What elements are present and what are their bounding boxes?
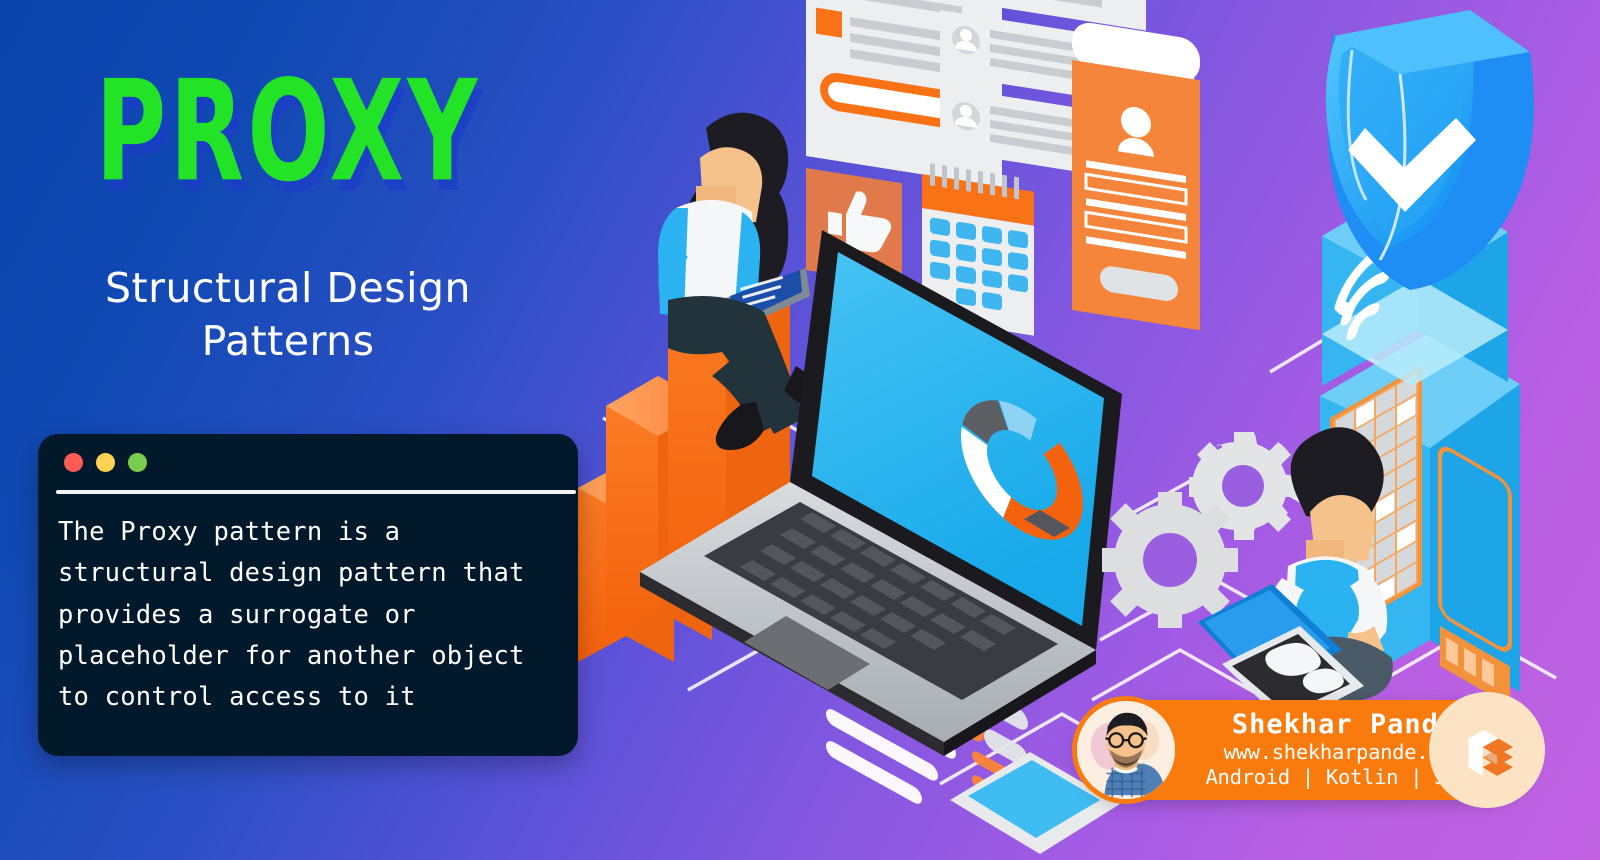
person-with-laptop [1198, 427, 1393, 726]
brand-logo-icon [1429, 692, 1545, 808]
title-block: PROXY Structural Design Patterns [0, 72, 576, 369]
contact-list-card [940, 86, 1146, 183]
security-shield-check [1326, 10, 1534, 290]
person-on-bars-with-tablet [658, 113, 836, 450]
code-window: The Proxy pattern is a structural design… [38, 434, 578, 756]
wifi-icon [1340, 244, 1394, 341]
avatar [1072, 696, 1180, 804]
maximize-icon[interactable] [128, 453, 147, 472]
page-subtitle: Structural Design Patterns [0, 262, 576, 369]
poster-canvas: PROXY Structural Design Patterns The Pro… [0, 0, 1600, 860]
author-badge[interactable]: Shekhar Pande www.shekharpande.com Andro… [1078, 700, 1533, 800]
laptop-dashboard [640, 230, 1122, 830]
server-tower [1320, 180, 1520, 706]
contact-list-card [940, 0, 1146, 31]
profile-card [1072, 20, 1200, 330]
isometric-bar-chart [578, 256, 790, 662]
calendar-card [922, 162, 1034, 336]
page-title: PROXY [52, 61, 524, 200]
close-icon[interactable] [64, 453, 83, 472]
contact-list-card [940, 10, 1146, 107]
minimize-icon[interactable] [96, 453, 115, 472]
code-window-text: The Proxy pattern is a structural design… [38, 494, 578, 718]
thumbs-up-card [806, 168, 902, 285]
author-name: Shekhar Pande [1232, 710, 1456, 740]
form-card [806, 0, 1002, 187]
code-window-titlebar [38, 434, 578, 490]
gears-icon [1102, 432, 1299, 628]
